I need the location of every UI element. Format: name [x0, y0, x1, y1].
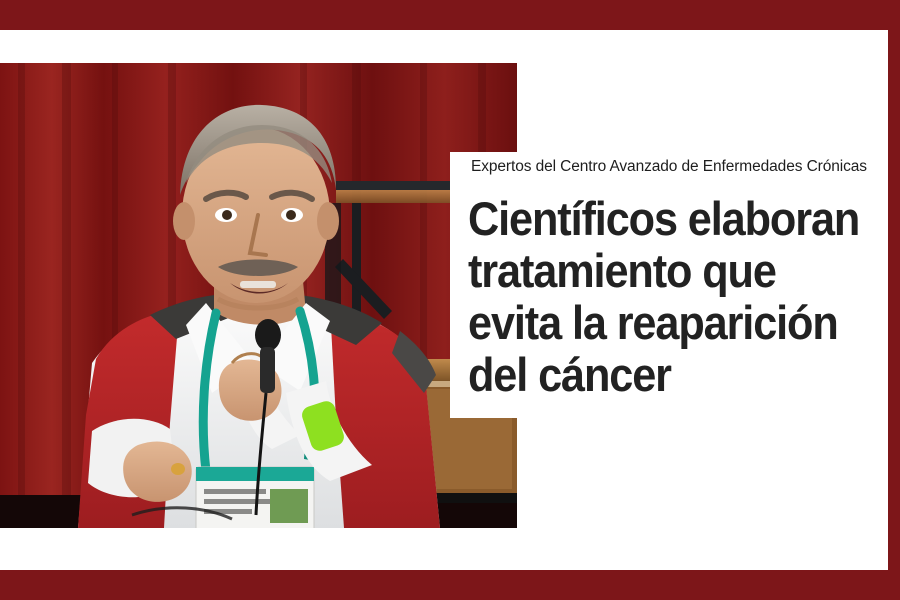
frame-band-right [888, 0, 900, 600]
speaker-photo [0, 63, 517, 528]
headline-text: Científicos elaboran tratamiento que evi… [468, 193, 865, 401]
frame-band-bottom [0, 570, 900, 600]
headline-line-2: tratamiento que [468, 245, 865, 297]
id-badge [196, 467, 314, 528]
microphone [255, 319, 281, 351]
frame-band-top [0, 0, 900, 30]
headline-line-3: evita la reaparición [468, 297, 865, 349]
kicker-text: Expertos del Centro Avanzado de Enfermed… [471, 158, 891, 176]
headline-line-4: del cáncer [468, 349, 865, 401]
headline-line-1: Científicos elaboran [468, 193, 865, 245]
news-graphic-card: Expertos del Centro Avanzado de Enfermed… [0, 0, 900, 600]
